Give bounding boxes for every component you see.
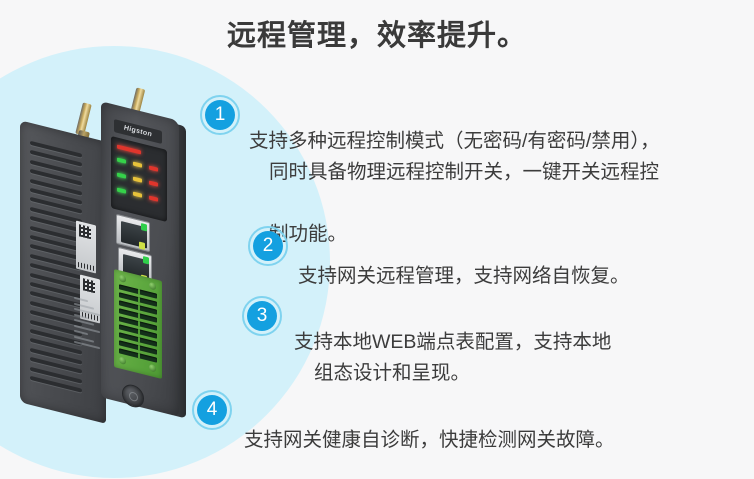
feature-badge-1-number: 1 — [205, 100, 235, 130]
feature-text-2: 支持网关远程管理，支持网络自恢复。 — [298, 226, 630, 292]
feature-badge-2-number: 2 — [253, 231, 283, 261]
feature-list: 1 支持多种远程控制模式（无密码/有密码/禁用）， 同时具备物理远程控制开关，一… — [0, 0, 754, 479]
feature-text-1-line-2: 同时具备物理远程控制开关，一键开关远程控 — [249, 157, 749, 188]
feature-badge-4: 4 — [192, 390, 232, 430]
feature-text-1-line-1: 支持多种远程控制模式（无密码/有密码/禁用）， — [249, 130, 660, 152]
feature-badge-3-number: 3 — [247, 301, 277, 331]
feature-text-2-line-1: 支持网关远程管理，支持网络自恢复。 — [298, 265, 630, 287]
feature-item-4: 4 支持网关健康自诊断，快捷检测网关故障。 — [192, 390, 615, 456]
feature-text-4: 支持网关健康自诊断，快捷检测网关故障。 — [244, 390, 615, 456]
feature-badge-3: 3 — [242, 296, 282, 336]
feature-text-4-line-1: 支持网关健康自诊断，快捷检测网关故障。 — [244, 429, 615, 451]
feature-text-3-line-1: 支持本地WEB端点表配置，支持本地 — [294, 331, 611, 353]
promo-banner: 远程管理，效率提升。 Higston — [0, 0, 754, 479]
feature-badge-4-number: 4 — [197, 395, 227, 425]
feature-badge-2: 2 — [248, 226, 288, 266]
feature-text-3-line-2: 组态设计和呈现。 — [294, 358, 714, 389]
feature-badge-1: 1 — [200, 95, 240, 135]
feature-item-2: 2 支持网关远程管理，支持网络自恢复。 — [248, 226, 630, 292]
